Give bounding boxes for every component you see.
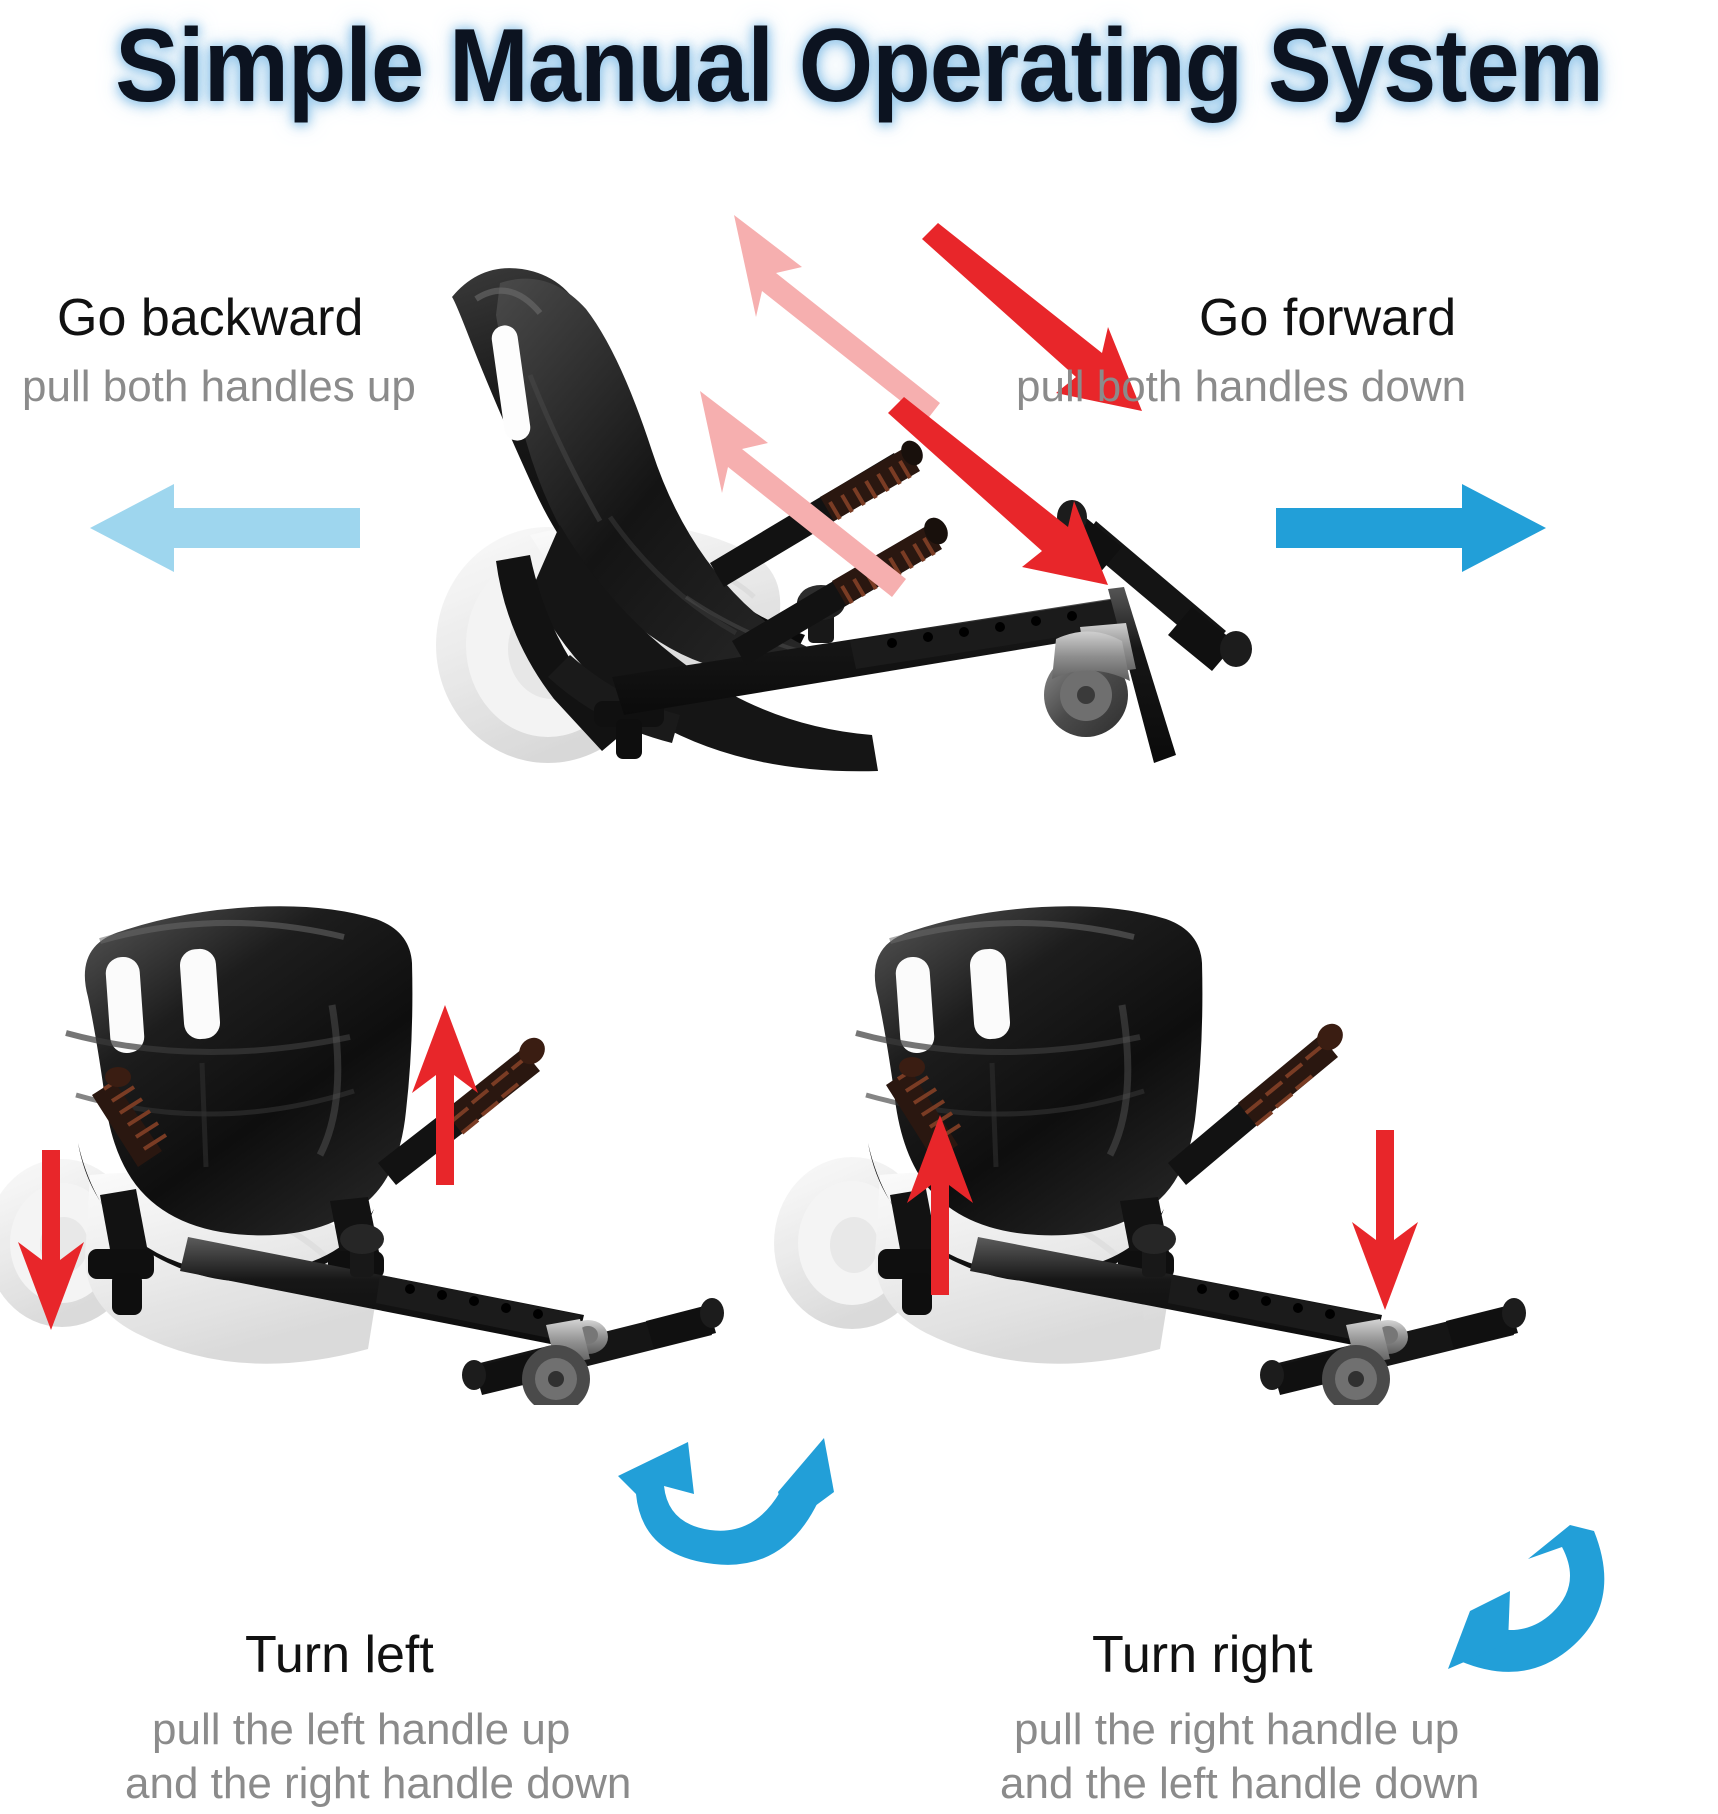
go-backward-heading: Go backward — [57, 288, 363, 348]
infographic-page: Simple Manual Operating System — [0, 0, 1718, 1814]
turn-left-heading: Turn left — [245, 1625, 434, 1685]
turn-right-heading: Turn right — [1092, 1625, 1313, 1685]
go-forward-heading: Go forward — [1199, 288, 1456, 348]
go-forward-subtext: pull both handles down — [1016, 360, 1466, 414]
arrow-down-icon-left-handle — [6, 1150, 96, 1330]
arrow-up-icon-left-handle — [895, 1115, 985, 1295]
turn-left-subtext-line-2: and the right handle down — [125, 1757, 631, 1811]
curved-arrow-down-left-icon — [1398, 1525, 1618, 1695]
turn-right-subtext-line-1: pull the right handle up — [1014, 1703, 1459, 1757]
arrow-right-icon — [1276, 480, 1546, 576]
turn-left-subtext-line-1: pull the left handle up — [152, 1703, 570, 1757]
handles-down-arrow-lower-icon — [888, 397, 1108, 585]
page-title: Simple Manual Operating System — [69, 6, 1650, 126]
arrow-up-icon-right-handle — [400, 1005, 490, 1185]
handles-up-arrow-upper-icon — [734, 215, 940, 421]
curved-arrow-up-right-icon — [618, 1418, 838, 1578]
caster-wheel — [1044, 623, 1136, 737]
hoverkart-turn-left-illustration — [0, 845, 780, 1405]
arrow-down-icon-right-handle — [1340, 1130, 1430, 1310]
hoverkart-turn-right-illustration — [760, 845, 1600, 1405]
go-backward-subtext: pull both handles up — [22, 360, 416, 414]
handles-up-arrow-lower-icon — [700, 391, 906, 597]
turn-right-subtext-line-2: and the left handle down — [1000, 1757, 1480, 1811]
arrow-left-icon — [90, 480, 360, 576]
handle-grip-right — [1238, 1019, 1348, 1125]
